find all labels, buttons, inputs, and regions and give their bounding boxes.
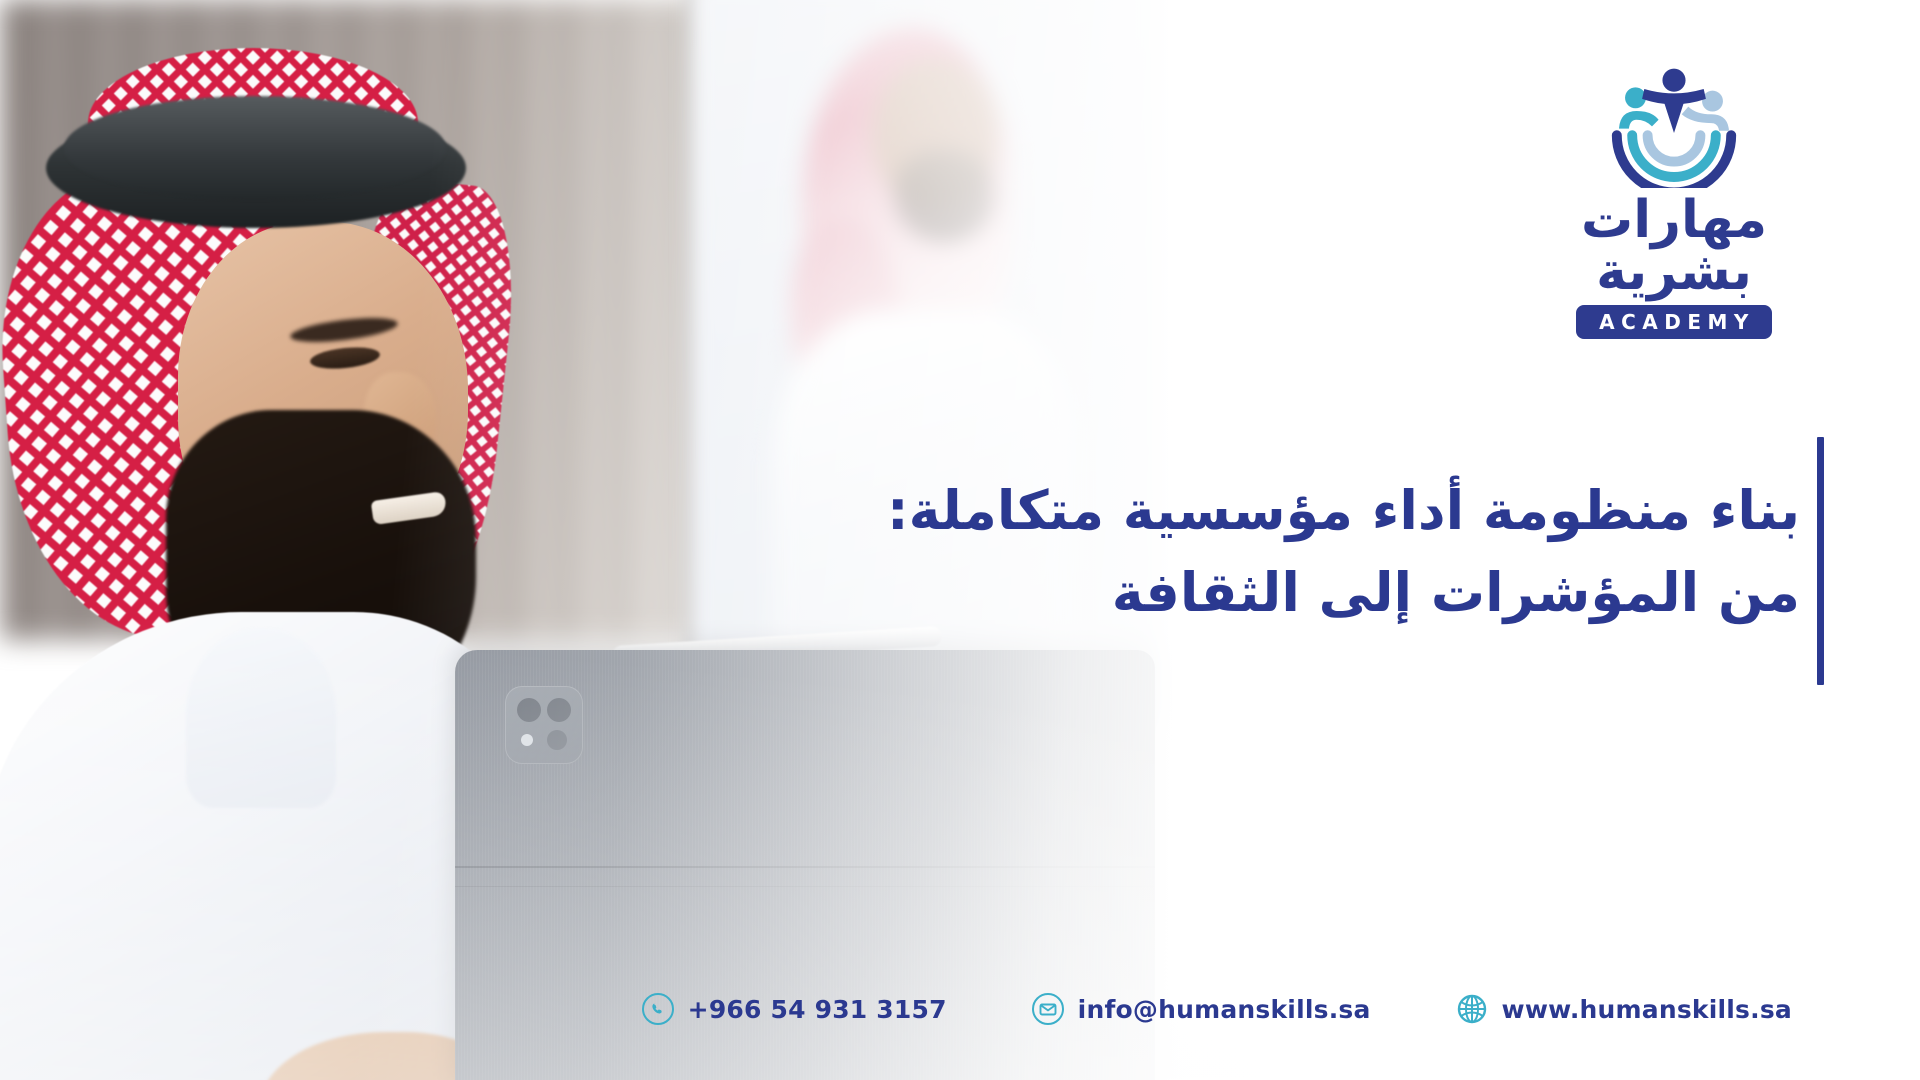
contact-email-label: info@humanskills.sa [1078,995,1371,1024]
envelope-icon [1031,992,1065,1026]
academy-badge: ACADEMY [1576,305,1772,339]
contact-website[interactable]: www.humanskills.sa [1455,992,1792,1026]
three-figures-arcs-emblem-icon [1608,56,1740,188]
brand-logo: مهارات بشرية ACADEMY [1540,56,1808,339]
globe-icon [1455,992,1489,1026]
contact-website-label: www.humanskills.sa [1502,995,1792,1024]
contact-email[interactable]: info@humanskills.sa [1031,992,1371,1026]
logo-arabic-name: مهارات بشرية [1540,194,1808,298]
contact-strip: +966 54 931 3157 info@humanskills.sa www… [0,992,1920,1026]
whatsapp-phone-icon [641,992,675,1026]
headline-line-2: من المؤشرات إلى الثقافة [790,552,1800,634]
headline-line-1: بناء منظومة أداء مؤسسية متكاملة: [790,470,1800,552]
contact-phone-label: +966 54 931 3157 [688,995,947,1024]
headline: بناء منظومة أداء مؤسسية متكاملة: من المؤ… [790,470,1800,634]
logo-wordmark: مهارات بشرية ACADEMY [1540,194,1808,339]
headline-accent-bar [1817,437,1824,685]
contact-phone[interactable]: +966 54 931 3157 [641,992,947,1026]
marketing-banner: مهارات بشرية ACADEMY بناء منظومة أداء مؤ… [0,0,1920,1080]
